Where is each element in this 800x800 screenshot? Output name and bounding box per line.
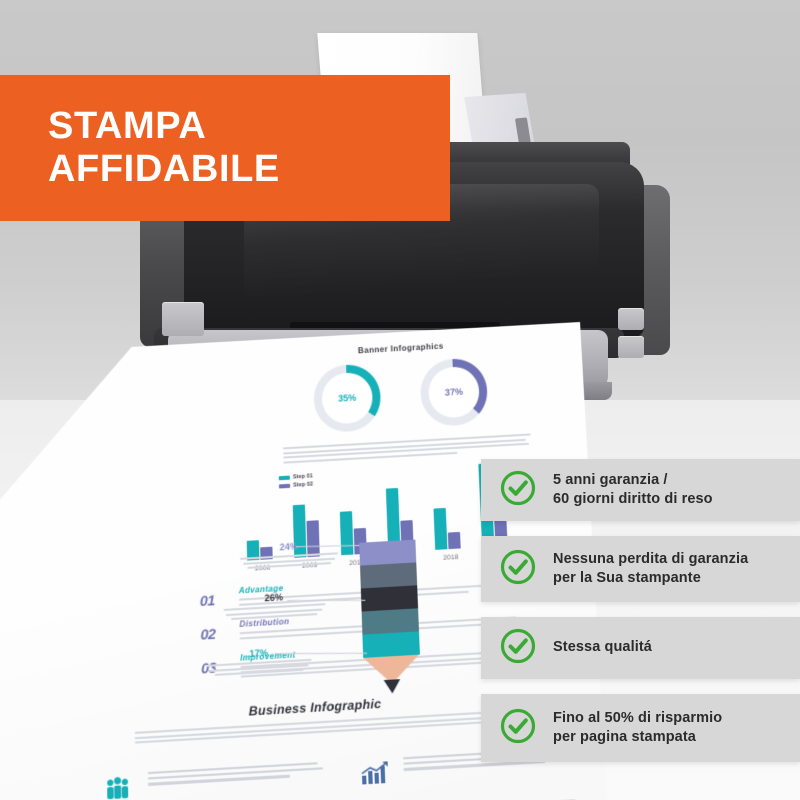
funnel-pencil-graphic	[359, 540, 421, 686]
check-circle-icon	[499, 627, 537, 670]
feature-panel-1: 5 anni garanzia / 60 giorni diritto di r…	[481, 459, 800, 521]
funnel-band-3	[361, 585, 418, 611]
headline-line-2: AFFIDABILE	[48, 148, 450, 191]
feature-panel-2: Nessuna perdita di garanzia per la Sua s…	[481, 536, 800, 602]
people-group-icon	[104, 775, 136, 800]
feature-text-3: Stessa qualitá	[553, 638, 652, 657]
infographic-title: Banner Infographics	[285, 338, 516, 360]
check-circle-icon	[499, 707, 537, 750]
bar-step-02	[448, 532, 461, 549]
icon-feature-text	[148, 762, 326, 789]
feature-panel-4: Fino al 50% di risparmio per pagina stam…	[481, 694, 800, 762]
funnel-band-5	[362, 631, 420, 657]
headline-line-1: STAMPA	[48, 105, 450, 148]
printer-button-small-top	[618, 308, 644, 330]
promo-banner-image: Banner Infographics 35% 37% Step 01	[0, 0, 800, 800]
funnel-band-1	[359, 540, 416, 566]
bar-x-tick: 2018	[433, 553, 468, 562]
feature-text-4: Fino al 50% di risparmio per pagina stam…	[553, 709, 722, 747]
check-circle-icon	[499, 469, 537, 512]
feature-panel-3: Stessa qualitá	[481, 617, 800, 679]
check-circle-icon	[499, 548, 537, 591]
headline-banner: STAMPA AFFIDABILE	[0, 75, 450, 221]
list-number: 02	[200, 625, 215, 643]
feature-text-1: 5 anni garanzia / 60 giorni diritto di r…	[553, 471, 713, 509]
feature-text-2: Nessuna perdita di garanzia per la Sua s…	[553, 550, 748, 588]
printer-button-small-bottom	[618, 336, 644, 358]
bar-step-01	[434, 508, 448, 550]
printer-button-large	[162, 302, 204, 336]
list-number: 01	[200, 592, 215, 610]
donut-chart-2: 37%	[419, 357, 488, 427]
icon-feature-people	[104, 762, 328, 775]
funnel-band-2	[360, 562, 417, 588]
pencil-graphite-point	[384, 679, 401, 694]
section-paragraph	[135, 710, 509, 746]
bar-group: 2018	[433, 548, 468, 550]
growth-chart-icon	[359, 760, 391, 788]
donut-chart-1: 35%	[313, 363, 382, 433]
funnel-band-4	[362, 608, 419, 634]
